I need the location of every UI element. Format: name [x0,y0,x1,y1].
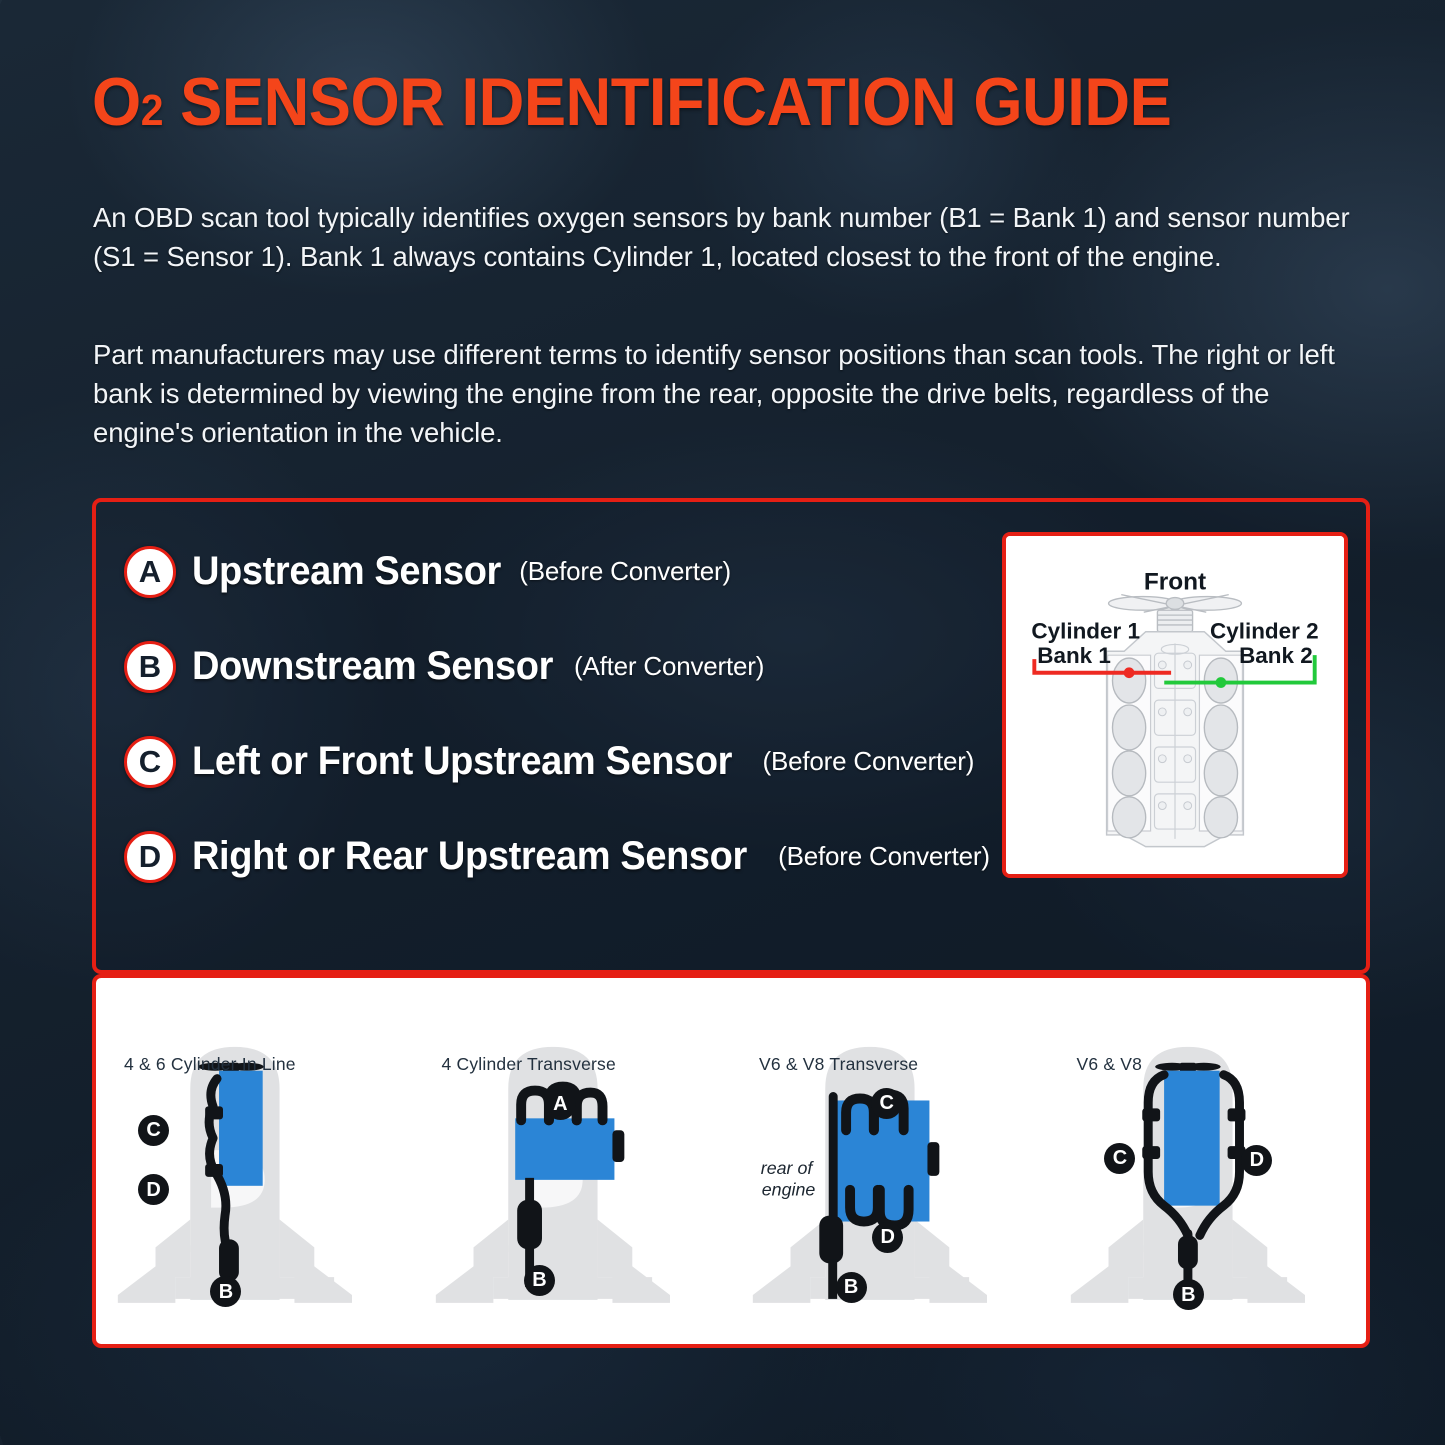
legend-note-b: (After Converter) [574,651,764,682]
legend-label-d: Right or Rear Upstream Sensor [192,834,747,879]
legend-label-c: Left or Front Upstream Sensor [192,739,732,784]
vehicle-layout-panel: 4 & 6 Cylinder In Line [92,974,1370,1348]
engine-bank-diagram-icon: Front Cylinder 1 Bank 1 Cylinder 2 Bank … [1006,536,1344,874]
engine-cylinder2-label: Cylinder 2 [1210,619,1319,644]
diagram-badge-a: A [545,1089,576,1120]
engine-front-label: Front [1144,569,1206,596]
legend-item-a: A Upstream Sensor (Before Converter) [124,524,1024,619]
legend-item-b: B Downstream Sensor (After Converter) [124,619,1024,714]
diagram-badge-c: C [1104,1143,1135,1174]
intro-paragraph-1: An OBD scan tool typically identifies ox… [93,198,1365,276]
infographic-page: O2 SENSOR IDENTIFICATION GUIDE An OBD sc… [0,0,1445,1445]
legend-note-d: (Before Converter) [778,841,990,872]
diagram-badge-c: C [138,1115,169,1146]
rear-of-engine-annotation-line2: engine [762,1180,816,1200]
engine-bank2-label: Bank 2 [1239,643,1313,668]
engine-cylinder1-label: Cylinder 1 [1031,619,1140,644]
inline-engine-layout-icon [96,978,414,1344]
diagram-badge-d: D [872,1222,903,1253]
legend-list: A Upstream Sensor (Before Converter) B D… [124,524,1024,904]
badge-a-icon: A [124,546,176,598]
transverse-4cyl-layout-icon [414,978,732,1344]
legend-item-d: D Right or Rear Upstream Sensor (Before … [124,809,1024,904]
title-rest: SENSOR IDENTIFICATION GUIDE [163,64,1171,140]
title-prefix: O [92,64,141,140]
legend-note-c: (Before Converter) [762,746,974,777]
legend-label-a: Upstream Sensor [192,549,501,594]
intro-paragraph-2: Part manufacturers may use different ter… [93,335,1365,452]
legend-note-a: (Before Converter) [519,556,731,587]
vehicle-diagram-inline: 4 & 6 Cylinder In Line [96,978,414,1344]
diagram-badge-b: B [524,1265,555,1296]
v-transverse-layout-icon: rear of engine [731,978,1049,1344]
badge-d-icon: D [124,831,176,883]
rear-of-engine-annotation-line1: rear of [761,1158,815,1178]
diagram-badge-c: C [871,1088,902,1119]
vehicle-diagram-4cyl-transverse: 4 Cylinder Transverse [414,978,732,1344]
diagram-badge-b: B [836,1272,867,1303]
engine-bank1-label: Bank 1 [1037,643,1111,668]
vehicle-diagram-v-longitudinal: V6 & V8 [1049,978,1367,1344]
page-title: O2 SENSOR IDENTIFICATION GUIDE [92,68,1171,136]
diagram-badge-d: D [1241,1145,1272,1176]
legend-panel: A Upstream Sensor (Before Converter) B D… [92,498,1370,974]
v-longitudinal-layout-icon [1049,978,1367,1344]
vehicle-diagram-v-transverse: rear of engine V6 & V8 Transverse [731,978,1049,1344]
title-subscript: 2 [141,86,163,135]
badge-b-icon: B [124,641,176,693]
badge-c-icon: C [124,736,176,788]
diagram-title-v-longitudinal: V6 & V8 [1077,1054,1143,1075]
diagram-title-4cyl-transverse: 4 Cylinder Transverse [442,1054,616,1075]
legend-label-b: Downstream Sensor [192,644,553,689]
diagram-title-inline: 4 & 6 Cylinder In Line [124,1054,296,1075]
engine-bank-diagram-card: Front Cylinder 1 Bank 1 Cylinder 2 Bank … [1002,532,1348,878]
legend-item-c: C Left or Front Upstream Sensor (Before … [124,714,1024,809]
diagram-title-v-transverse: V6 & V8 Transverse [759,1054,918,1075]
